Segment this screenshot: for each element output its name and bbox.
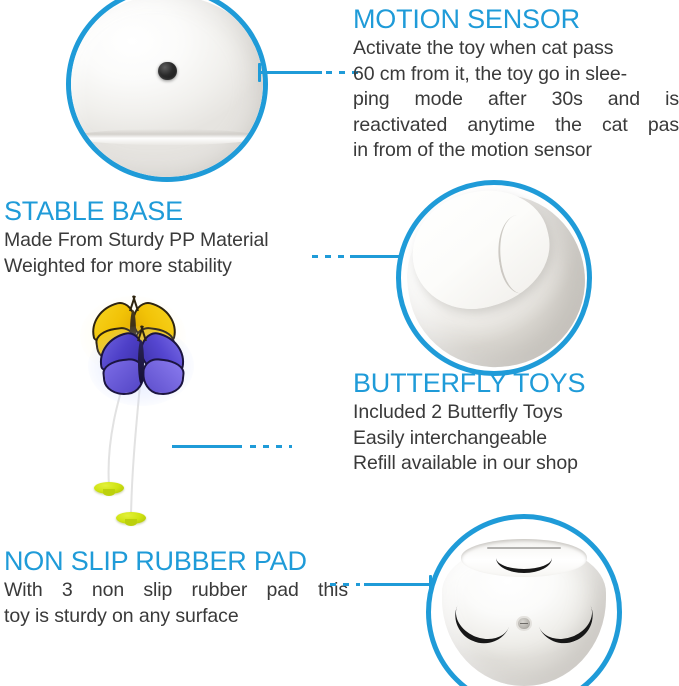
butterfly-toys-illustration xyxy=(72,300,202,535)
connector-dotted-segment xyxy=(330,583,360,586)
feature-body-non-slip-rubber-pad: With 3 non slip rubber pad this toy is s… xyxy=(4,578,348,629)
feature-title-motion-sensor: MOTION SENSOR xyxy=(353,4,679,34)
feature-body-motion-sensor: Activate the toy when cat pass 60 cm fro… xyxy=(353,36,679,164)
stable-base-device-illustration xyxy=(401,185,587,371)
connector-solid-segment xyxy=(172,445,242,448)
stable-base-product-photo xyxy=(396,180,592,376)
feature-block-stable-base: STABLE BASE Made From Sturdy PP Material… xyxy=(4,196,334,279)
body-line: reactivated anytime the cat pas xyxy=(353,113,679,139)
feature-title-stable-base: STABLE BASE xyxy=(4,196,334,226)
connector-stable-base xyxy=(312,246,404,266)
connector-butterfly-toys xyxy=(172,436,292,456)
motion-sensor-product-photo xyxy=(66,0,268,182)
feature-title-butterfly-toys: BUTTERFLY TOYS xyxy=(353,368,679,398)
body-line: Included 2 Butterfly Toys xyxy=(353,400,679,426)
body-line: 60 cm from it, the toy go in slee- xyxy=(353,62,679,88)
body-line: in from of the motion sensor xyxy=(353,138,679,164)
connector-solid-segment xyxy=(364,583,432,586)
feature-body-butterfly-toys: Included 2 Butterfly Toys Easily interch… xyxy=(353,400,679,477)
connector-non-slip-rubber-pad xyxy=(330,574,432,594)
center-screw-icon xyxy=(518,618,529,629)
feature-block-butterfly-toys: BUTTERFLY TOYS Included 2 Butterfly Toys… xyxy=(353,368,679,477)
feature-block-non-slip-rubber-pad: NON SLIP RUBBER PAD With 3 non slip rubb… xyxy=(4,546,348,629)
rubber-pad-arc xyxy=(496,543,552,573)
body-line: Weighted for more stability xyxy=(4,254,334,280)
motion-sensor-lens-icon xyxy=(158,62,176,81)
connector-solid-segment xyxy=(260,71,322,74)
feature-title-non-slip-rubber-pad: NON SLIP RUBBER PAD xyxy=(4,546,348,576)
motion-sensor-device-illustration xyxy=(71,0,263,177)
body-line: With 3 non slip rubber pad this xyxy=(4,578,348,604)
device-body xyxy=(71,0,263,177)
device-underside-illustration xyxy=(431,519,617,686)
feature-body-stable-base: Made From Sturdy PP Material Weighted fo… xyxy=(4,228,334,279)
body-line: Activate the toy when cat pass xyxy=(353,36,679,62)
body-line: ping mode after 30s and is xyxy=(353,87,679,113)
body-line: Refill available in our shop xyxy=(353,451,679,477)
butterfly-body xyxy=(138,340,144,384)
connector-dotted-segment xyxy=(312,255,346,258)
butterfly-toy-blue xyxy=(98,334,184,396)
connector-motion-sensor xyxy=(258,62,358,82)
non-slip-rubber-pad-product-photo xyxy=(426,514,622,686)
connector-dotted-segment xyxy=(250,445,292,448)
butterfly-attachment-cap xyxy=(116,512,146,524)
connector-solid-segment xyxy=(350,255,404,258)
body-line: Made From Sturdy PP Material xyxy=(4,228,334,254)
body-line: toy is sturdy on any surface xyxy=(4,604,348,630)
product-feature-infographic: MOTION SENSOR Activate the toy when cat … xyxy=(0,0,679,686)
butterfly-attachment-cap xyxy=(94,482,124,494)
feature-block-motion-sensor: MOTION SENSOR Activate the toy when cat … xyxy=(353,4,679,164)
body-line: Easily interchangeable xyxy=(353,426,679,452)
